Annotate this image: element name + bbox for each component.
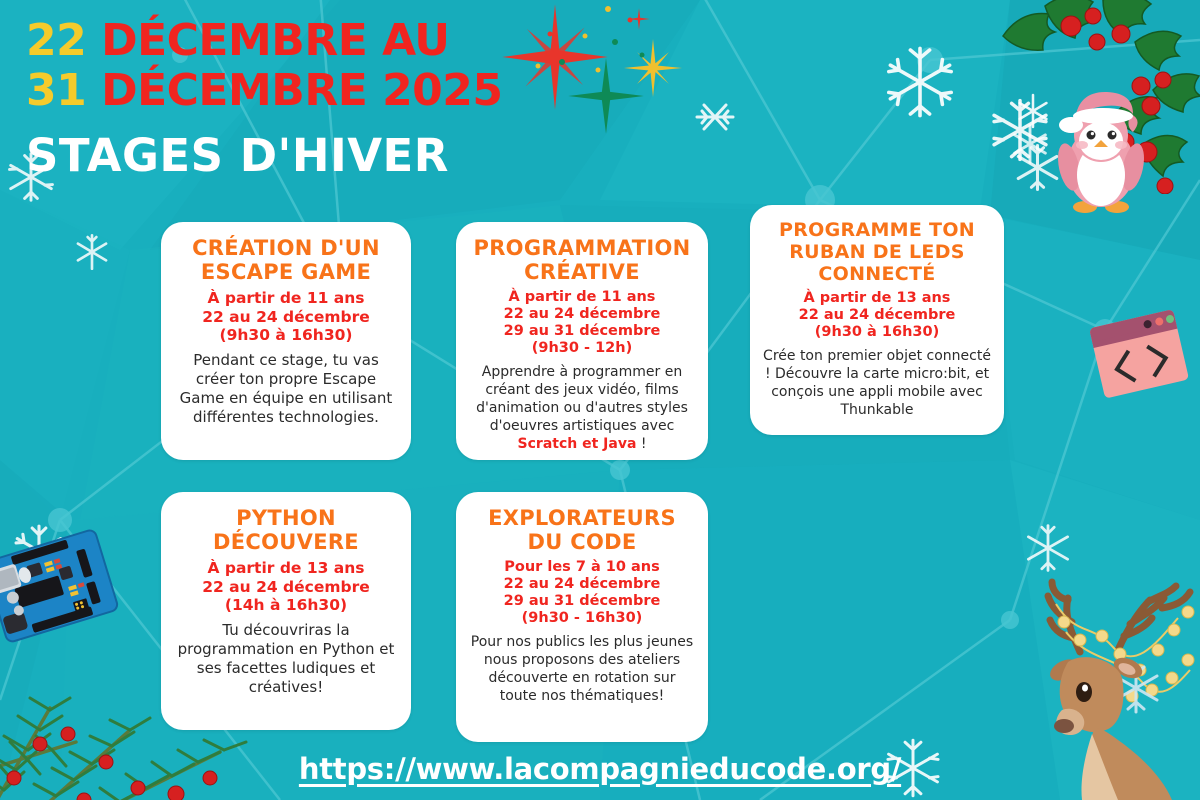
course-meta: À partir de 13 ans 22 au 24 décembre (9h…	[762, 290, 992, 341]
course-age: À partir de 11 ans	[207, 289, 364, 307]
course-title-line1: EXPLORATEURS	[488, 506, 676, 530]
course-card-python[interactable]: PYTHON DÉCOUVERE À partir de 13 ans 22 a…	[161, 492, 411, 730]
course-card-explorateurs-du-code[interactable]: EXPLORATEURS DU CODE Pour les 7 à 10 ans…	[456, 492, 708, 742]
course-card-escape-game[interactable]: CRÉATION D'UN ESCAPE GAME À partir de 11…	[161, 222, 411, 460]
course-hours: (9h30 à 16h30)	[220, 326, 353, 344]
course-title-line3: CONNECTÉ	[818, 263, 935, 285]
course-age: À partir de 13 ans	[207, 559, 364, 577]
course-title-line2: DU CODE	[528, 530, 637, 554]
course-dates-1: 22 au 24 décembre	[202, 308, 370, 326]
date-end-day: 31	[26, 65, 86, 116]
course-description-highlight: Scratch et Java	[518, 436, 637, 452]
poster-canvas: 22 DÉCEMBRE AU 31 DÉCEMBRE 2025 STAGES D…	[0, 0, 1200, 800]
course-age: À partir de 13 ans	[804, 290, 951, 306]
course-dates-1: 22 au 24 décembre	[202, 578, 370, 596]
course-dates-1: 22 au 24 décembre	[504, 306, 661, 322]
date-line-1: 22 DÉCEMBRE AU	[26, 16, 503, 66]
course-title-line2: ESCAPE GAME	[201, 260, 371, 284]
course-hours: (9h30 - 16h30)	[522, 610, 643, 626]
course-age: Pour les 7 à 10 ans	[504, 559, 660, 575]
course-meta: Pour les 7 à 10 ans 22 au 24 décembre 29…	[468, 559, 696, 627]
date-start-day: 22	[26, 15, 86, 66]
course-description: Pendant ce stage, tu vas créer ton propr…	[173, 351, 399, 427]
course-title-line2: DÉCOUVERE	[213, 530, 359, 554]
course-meta: À partir de 13 ans 22 au 24 décembre (14…	[173, 559, 399, 615]
date-end-text: DÉCEMBRE 2025	[101, 65, 502, 116]
date-line-2: 31 DÉCEMBRE 2025	[26, 66, 503, 116]
course-description-text: Apprendre à programmer en créant des jeu…	[476, 364, 688, 434]
course-title: CRÉATION D'UN ESCAPE GAME	[173, 236, 399, 284]
course-description: Apprendre à programmer en créant des jeu…	[468, 363, 696, 453]
course-meta: À partir de 11 ans 22 au 24 décembre (9h…	[173, 289, 399, 345]
course-hours: (9h30 à 16h30)	[815, 324, 939, 340]
course-hours: (14h à 16h30)	[225, 596, 347, 614]
course-title-line1: PROGRAMME TON	[779, 219, 975, 241]
course-title: PROGRAMME TON RUBAN DE LEDS CONNECTÉ	[762, 219, 992, 285]
course-dates-1: 22 au 24 décembre	[504, 576, 661, 592]
poster-header: 22 DÉCEMBRE AU 31 DÉCEMBRE 2025 STAGES D…	[26, 16, 503, 182]
course-title-line2: CRÉATIVE	[524, 260, 640, 284]
course-description: Crée ton premier objet connecté ! Découv…	[762, 347, 992, 419]
website-url-link[interactable]: https://www.lacompagnieducode.org/	[0, 752, 1200, 786]
course-dates-2: 29 au 31 décembre	[504, 323, 661, 339]
course-hours: (9h30 - 12h)	[532, 340, 632, 356]
course-title: PYTHON DÉCOUVERE	[173, 506, 399, 554]
course-description-tail: !	[636, 436, 646, 452]
course-meta: À partir de 11 ans 22 au 24 décembre 29 …	[468, 289, 696, 357]
course-title-line1: CRÉATION D'UN	[192, 236, 380, 260]
page-title: STAGES D'HIVER	[26, 130, 503, 182]
course-card-ruban-leds[interactable]: PROGRAMME TON RUBAN DE LEDS CONNECTÉ À p…	[750, 205, 1004, 435]
course-title: EXPLORATEURS DU CODE	[468, 506, 696, 554]
course-age: À partir de 11 ans	[509, 289, 656, 305]
course-dates-1: 22 au 24 décembre	[799, 307, 956, 323]
course-card-programmation-creative[interactable]: PROGRAMMATION CRÉATIVE À partir de 11 an…	[456, 222, 708, 460]
course-title-line1: PROGRAMMATION	[474, 236, 691, 260]
course-title-line2: RUBAN DE LEDS	[789, 241, 965, 263]
course-title: PROGRAMMATION CRÉATIVE	[468, 236, 696, 284]
course-dates-2: 29 au 31 décembre	[504, 593, 661, 609]
course-description: Tu découvriras la programmation en Pytho…	[173, 621, 399, 697]
course-title-line1: PYTHON	[236, 506, 336, 530]
course-description: Pour nos publics les plus jeunes nous pr…	[468, 633, 696, 705]
date-start-text: DÉCEMBRE AU	[101, 15, 449, 66]
